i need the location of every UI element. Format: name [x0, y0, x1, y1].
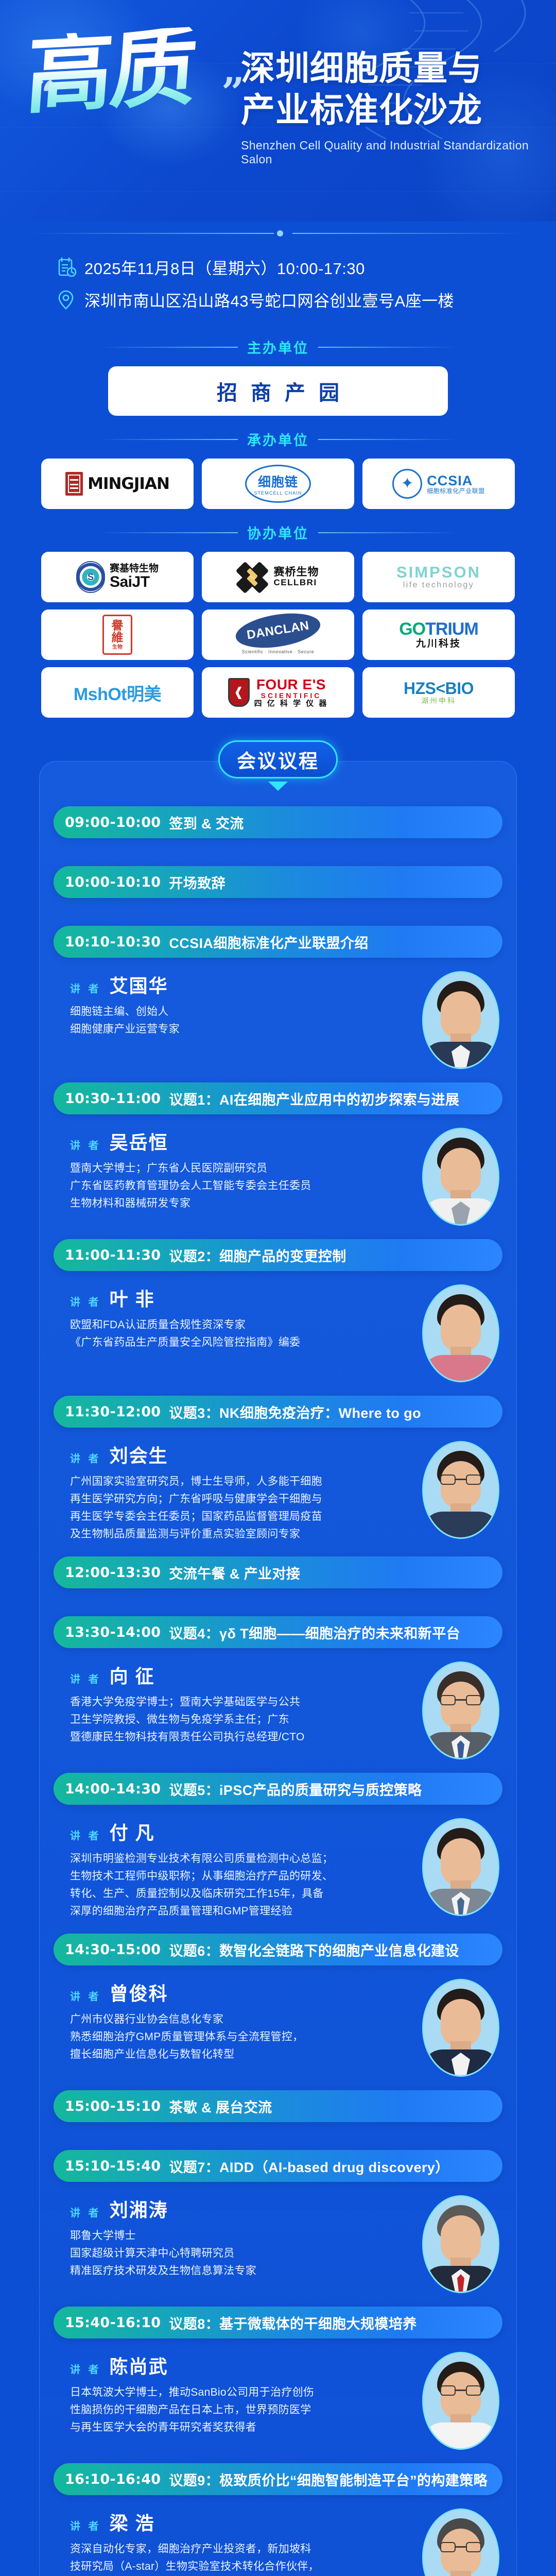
bio-line: 欧盟和FDA认证质量合规性资深专家	[70, 1316, 415, 1334]
bio-line: 暨德康民生物科技有限责任公司执行总经理/CTO	[70, 1728, 415, 1746]
speaker-label: 讲 者	[70, 1450, 101, 1465]
bio-line: 再生医学专委会主任委员；国家药品监督管理局疫苗	[70, 1508, 415, 1526]
logo-danclan: DANCLAN Scientific · Innovative · Secure	[202, 609, 354, 660]
section-label-organizer: 承办单位	[0, 429, 556, 449]
hero-title-line1: 深圳细胞质量与	[241, 47, 545, 89]
ccsia-cn: 细胞标准化产业联盟	[427, 488, 485, 495]
bio-line: 擅长细胞产业信息化与数智化转型	[70, 2046, 415, 2063]
slot-title: 茶歇 & 展台交流	[169, 2096, 272, 2116]
speaker-label: 讲 者	[70, 1294, 101, 1309]
speaker-block: 讲 者 付 凡 深圳市明鉴检测专业技术有限公司质量检测中心总监； 生物技术工程师…	[54, 1805, 502, 1934]
speaker-block: 讲 者 陈尚武 日本筑波大学博士，推动SanBio公司用于治疗创伤 性脑损伤的干…	[54, 2338, 502, 2463]
slot-time: 10:10-10:30	[65, 934, 161, 950]
speaker-label: 讲 者	[70, 1671, 101, 1686]
bio-line: 生物技术工程师中级职称；从事细胞治疗产品的研发、	[70, 1868, 415, 1885]
ccsia-star-icon: ✦	[392, 469, 422, 499]
stemcell-chain-ring-icon: 细胞链 STEMCELL CHAIN	[245, 465, 311, 503]
slot-time: 15:00-15:10	[65, 2098, 161, 2114]
glasses-icon	[439, 2542, 482, 2552]
danclan-tagline: Scientific · Innovative · Secure	[242, 650, 315, 654]
speaker-avatar	[422, 2509, 499, 2576]
label-rule-left	[99, 532, 238, 533]
saijt-emblem-icon: S	[76, 561, 105, 593]
speaker-block: 讲 者 刘会生 广州国家实验室研究员，博士生导师，人多能干细胞 再生医学研究方向…	[54, 1428, 502, 1556]
mshot-cn: 明美	[127, 685, 161, 704]
bio-line: 与再生医学大会的青年研究者奖获得者	[70, 2419, 415, 2436]
logo-mingjian: MINGJIAN	[41, 459, 194, 509]
speaker-bio: 暨南大学博士；广东省人民医院副研究员 广东省医药教育管理协会人工智能专委会主任委…	[70, 1160, 415, 1212]
speaker-label: 讲 者	[70, 1137, 101, 1152]
mshot-wordmark: MshOt明美	[74, 680, 161, 705]
four-es-shield-icon: ❰	[228, 678, 250, 707]
stemcell-chain-cn: 细胞链	[258, 472, 298, 490]
bio-line: 日本筑波大学博士，推动SanBio公司用于治疗创伤	[70, 2384, 415, 2401]
bio-line: 再生医学研究方向；广东省呼吸与健康学会干细胞与	[70, 1490, 415, 1508]
bio-line: 性脑损伤的干细胞产品在日本上市，世界预防医学	[70, 2401, 415, 2419]
slot-title: CCSIA细胞标准化产业联盟介绍	[169, 932, 368, 952]
slot-title: 议题4：γδ T细胞——细胞治疗的未来和新平台	[169, 1622, 460, 1642]
speaker-bio: 日本筑波大学博士，推动SanBio公司用于治疗创伤 性脑损伤的干细胞产品在日本上…	[70, 2384, 415, 2436]
speaker-avatar	[422, 1818, 499, 1916]
agenda-slot[interactable]: 14:30-15:00 议题6：数智化全链路下的细胞产业信息化建设	[54, 1934, 502, 1965]
agenda-caret-icon	[268, 782, 288, 791]
glasses-icon	[439, 1695, 482, 1705]
glasses-icon	[439, 1475, 482, 1485]
bio-line: 暨南大学博士；广东省人民医院副研究员	[70, 1160, 415, 1177]
speaker-label: 讲 者	[70, 1827, 101, 1842]
mingjian-wordmark: MINGJIAN	[88, 474, 169, 493]
bio-line: 深圳市明鉴检测专业技术有限公司质量检测中心总监；	[70, 1850, 415, 1868]
bio-line: 广州市仪器行业协会信息化专家	[70, 2011, 415, 2028]
bio-line: 深厚的细胞治疗产品质量管理和GMP管理经验	[70, 1903, 415, 1920]
glasses-icon	[439, 2385, 482, 2396]
slot-title: 签到 & 交流	[169, 812, 244, 833]
coorganizer-label: 协办单位	[247, 522, 309, 543]
hero-title-block: 深圳细胞质量与 产业标准化沙龙 Shenzhen Cell Quality an…	[241, 47, 545, 166]
hero-title-line2: 产业标准化沙龙	[241, 89, 545, 131]
location-pin-icon	[58, 289, 77, 311]
speaker-bio: 广州国家实验室研究员，博士生导师，人多能干细胞 再生医学研究方向；广东省呼吸与健…	[70, 1473, 415, 1543]
agenda-slot[interactable]: 11:30-12:00 议题3：NK细胞免疫治疗：Where to go	[54, 1396, 502, 1428]
agenda-slot[interactable]: 15:00-15:10 茶歇 & 展台交流	[54, 2090, 502, 2122]
speaker-avatar	[422, 1441, 499, 1539]
speaker-avatar	[422, 2352, 499, 2450]
speaker-name: 吴岳恒	[110, 1128, 168, 1155]
logo-saijt: S 赛基特生物 SaiJT	[41, 552, 194, 602]
cellbri-diamond-icon	[237, 563, 269, 591]
speaker-avatar	[422, 1284, 499, 1382]
slot-title: 议题2：细胞产品的变更控制	[169, 1245, 346, 1265]
agenda-slot[interactable]: 11:00-11:30 议题2：细胞产品的变更控制	[54, 1239, 502, 1271]
speaker-avatar	[422, 1979, 499, 2077]
cellbri-en: CELLBRI	[274, 578, 319, 587]
speaker-avatar	[422, 1128, 499, 1226]
organizer-logo-grid: MINGJIAN 细胞链 STEMCELL CHAIN ✦ CCSIA 细胞标准…	[0, 459, 556, 509]
slot-title: 议题1：AI在细胞产业应用中的初步探索与进展	[169, 1089, 459, 1109]
divider-dot	[277, 230, 283, 236]
bio-line: 及生物制品质量监测与评价重点实验室顾问专家	[70, 1526, 415, 1543]
stemcell-chain-en: STEMCELL CHAIN	[254, 490, 302, 496]
agenda-heading-text: 会议议程	[237, 745, 319, 773]
agenda-slot[interactable]: 10:00-10:10 开场致辞	[54, 866, 502, 898]
cellbri-cn: 赛桥生物	[274, 567, 319, 578]
speaker-label: 讲 者	[70, 980, 101, 995]
host-label: 主办单位	[247, 337, 309, 357]
yuwei-cn2: 維	[112, 632, 124, 643]
yuwei-cn3: 生物	[112, 645, 123, 650]
logo-simpson: SIMPSON life technology	[362, 552, 515, 602]
bio-line: 国家超级计算天津中心特聘研究员	[70, 2245, 415, 2262]
yuwei-seal-icon: 譽 維 生物	[102, 615, 132, 655]
divider-right	[292, 233, 524, 234]
slot-title: 议题6：数智化全链路下的细胞产业信息化建设	[169, 1940, 459, 1960]
slot-time: 13:30-14:00	[65, 1624, 161, 1640]
gotrium-cn: 九川科技	[416, 639, 461, 649]
speaker-name: 曾俊科	[110, 1979, 168, 2006]
danclan-oval-icon: DANCLAN	[233, 609, 323, 653]
slot-title: 开场致辞	[169, 872, 225, 892]
coorganizer-logo-grid: S 赛基特生物 SaiJT 赛桥生物 CELLBRI SIMPS	[0, 552, 556, 718]
logo-ccsia: ✦ CCSIA 细胞标准化产业联盟	[362, 459, 515, 509]
slot-time: 11:00-11:30	[65, 1247, 161, 1263]
spacer	[54, 2122, 502, 2150]
bio-line: 熟悉细胞治疗GMP质量管理体系与全流程管控，	[70, 2028, 415, 2046]
speaker-bio: 深圳市明鉴检测专业技术有限公司质量检测中心总监； 生物技术工程师中级职称；从事细…	[70, 1850, 415, 1920]
agenda-slot[interactable]: 14:00-14:30 议题5：iPSC产品的质量研究与质控策略	[54, 1773, 502, 1805]
speaker-name: 梁 浩	[110, 2509, 155, 2535]
logo-stemcell-chain: 细胞链 STEMCELL CHAIN	[202, 459, 354, 509]
slot-time: 15:10-15:40	[65, 2158, 161, 2174]
agenda-list: 09:00-10:00 签到 & 交流 10:00-10:10 开场致辞 10:…	[0, 791, 556, 2576]
calendar-clock-icon	[58, 257, 77, 278]
mshot-en: MshOt	[74, 685, 127, 704]
event-date-row: 2025年11月8日（星期六）10:00-17:30	[58, 256, 556, 279]
four-es-wordmark: FOUR E'S	[256, 677, 326, 692]
agenda-heading-pill: 会议议程	[218, 740, 338, 778]
agenda-slot[interactable]: 13:30-14:00 议题4：γδ T细胞——细胞治疗的未来和新平台	[54, 1616, 502, 1648]
slot-time: 10:30-11:00	[65, 1091, 161, 1107]
saijt-en: SaiJT	[110, 574, 159, 590]
logo-hzs-bio: HZS<BIO 湖州申科	[362, 667, 515, 718]
four-es-sub: SCIENTIFIC	[261, 692, 322, 700]
agenda-slot[interactable]: 10:10-10:30 CCSIA细胞标准化产业联盟介绍	[54, 926, 502, 958]
hero-divider	[0, 226, 556, 241]
danclan-wordmark: DANCLAN	[246, 619, 310, 642]
spacer	[54, 898, 502, 926]
yuwei-cn1: 譽	[112, 620, 124, 632]
label-rule-left	[99, 439, 238, 440]
gotrium-wordmark: GOTRIUM	[399, 620, 478, 639]
agenda-section: 会议议程 09:00-10:00 签到 & 交流 10:00-10:10 开场致…	[0, 740, 556, 2576]
speaker-bio: 广州市仪器行业协会信息化专家 熟悉细胞治疗GMP质量管理体系与全流程管控， 擅长…	[70, 2011, 415, 2063]
divider-left	[32, 233, 274, 234]
simpson-tagline: life technology	[403, 581, 474, 590]
speaker-name: 艾国华	[110, 971, 168, 998]
calligraphy-text: 高质	[24, 27, 197, 115]
speaker-block: 讲 者 刘湘涛 耶鲁大学博士 国家超级计算天津中心特聘研究员 精准医疗技术研发及…	[54, 2182, 502, 2307]
slot-time: 15:40-16:10	[65, 2315, 161, 2331]
bio-line: 技研究局（A-star）生物实验室技术转化合作伙伴，	[70, 2558, 415, 2575]
event-date: 2025年11月8日（星期六）10:00-17:30	[84, 256, 365, 279]
speaker-label: 讲 者	[70, 2205, 101, 2219]
label-rule-right	[318, 439, 457, 440]
bio-line: 耶鲁大学博士	[70, 2227, 415, 2245]
speaker-label: 讲 者	[70, 2361, 101, 2376]
slot-title: 交流午餐 & 产业对接	[169, 1563, 300, 1583]
hzs-wordmark: HZS<BIO	[404, 680, 474, 698]
calligraphy-block: “ 高质 ”	[27, 31, 233, 201]
speaker-block: 讲 者 艾国华 细胞链主编、创始人 细胞健康产业运营专家	[54, 958, 502, 1082]
logo-cellbri: 赛桥生物 CELLBRI	[202, 552, 354, 602]
event-location: 深圳市南山区沿山路43号蛇口网谷创业壹号A座一楼	[84, 288, 454, 311]
logo-mshot: MshOt明美	[41, 667, 194, 718]
speaker-name: 刘会生	[110, 1441, 168, 1468]
bio-line: 资深自动化专家，细胞治疗产业投资者，新加坡科	[70, 2540, 415, 2558]
event-location-row: 深圳市南山区沿山路43号蛇口网谷创业壹号A座一楼	[58, 288, 556, 311]
agenda-slot[interactable]: 15:10-15:40 议题7：AIDD（AI-based drug disco…	[54, 2150, 502, 2182]
speaker-bio: 香港大学免疫学博士；暨南大学基础医学与公共 卫生学院教授、微生物与免疫学系主任；…	[70, 1693, 415, 1746]
label-rule-right	[318, 532, 457, 533]
spacer	[54, 838, 502, 866]
slot-time: 14:30-15:00	[65, 1942, 161, 1958]
spacer	[54, 1588, 502, 1616]
bio-line: 细胞链主编、创始人	[70, 1003, 415, 1021]
speaker-block: 讲 者 梁 浩 资深自动化专家，细胞治疗产业投资者，新加坡科 技研究局（A-st…	[54, 2495, 502, 2576]
agenda-slot[interactable]: 09:00-10:00 签到 & 交流	[54, 806, 502, 838]
speaker-avatar	[422, 1662, 499, 1759]
bio-line: 精准医疗技术研发及生物信息算法专家	[70, 2262, 415, 2280]
logo-four-es: ❰ FOUR E'S SCIENTIFIC 四 亿 科 学 仪 器	[202, 667, 354, 718]
slot-time: 16:10-16:40	[65, 2471, 161, 2487]
agenda-slot[interactable]: 16:10-16:40 议题9：极致质价比“细胞智能制造平台”的构建策略	[54, 2463, 502, 2495]
speaker-name: 刘湘涛	[110, 2195, 168, 2222]
label-rule-left	[99, 347, 238, 348]
speaker-avatar	[422, 971, 499, 1069]
ccsia-wordmark: CCSIA	[427, 473, 485, 488]
bio-line: 生物材料和器械研发专家	[70, 1195, 415, 1212]
slot-title: 议题9：极致质价比“细胞智能制造平台”的构建策略	[169, 2469, 488, 2489]
speaker-block: 讲 者 叶 非 欧盟和FDA认证质量合规性资深专家 《广东省药品生产质量安全风险…	[54, 1271, 502, 1396]
logo-gotrium: GOTRIUM 九川科技	[362, 609, 515, 660]
bio-line: 广州国家实验室研究员，博士生导师，人多能干细胞	[70, 1473, 415, 1490]
bio-line: 卫生学院教授、微生物与免疫学系主任；广东	[70, 1711, 415, 1728]
slot-title: 议题5：iPSC产品的质量研究与质控策略	[169, 1779, 422, 1799]
speaker-bio: 欧盟和FDA认证质量合规性资深专家 《广东省药品生产质量安全风险管控指南》编委	[70, 1316, 415, 1351]
four-es-cn: 四 亿 科 学 仪 器	[254, 700, 328, 708]
organizer-label: 承办单位	[247, 429, 309, 449]
slot-time: 09:00-10:00	[65, 815, 161, 831]
gotrium-go: GO	[399, 619, 425, 639]
label-rule-right	[318, 347, 457, 348]
hero-subtitle: Shenzhen Cell Quality and Industrial Sta…	[241, 139, 545, 166]
slot-time: 10:00-10:10	[65, 874, 161, 890]
section-label-host: 主办单位	[0, 337, 556, 357]
speaker-block: 讲 者 向 征 香港大学免疫学博士；暨南大学基础医学与公共 卫生学院教授、微生物…	[54, 1648, 502, 1773]
agenda-slot[interactable]: 12:00-13:30 交流午餐 & 产业对接	[54, 1556, 502, 1588]
simpson-wordmark: SIMPSON	[396, 564, 481, 581]
slot-time: 11:30-12:00	[65, 1404, 161, 1420]
agenda-slot[interactable]: 10:30-11:00 议题1：AI在细胞产业应用中的初步探索与进展	[54, 1082, 502, 1114]
speaker-block: 讲 者 曾俊科 广州市仪器行业协会信息化专家 熟悉细胞治疗GMP质量管理体系与全…	[54, 1965, 502, 2090]
bio-line: 细胞健康产业运营专家	[70, 1021, 415, 1038]
slot-time: 14:00-14:30	[65, 1781, 161, 1797]
speaker-name: 向 征	[110, 1662, 155, 1688]
mingjian-seal-icon	[65, 472, 83, 496]
bio-line: 香港大学免疫学博士；暨南大学基础医学与公共	[70, 1693, 415, 1711]
gotrium-trium: TRIUM	[425, 619, 478, 639]
logo-yuwei: 譽 維 生物	[41, 609, 194, 660]
host-logo-text: 招商产园	[203, 376, 353, 406]
section-label-coorganizer: 协办单位	[0, 522, 556, 543]
speaker-block: 讲 者 吴岳恒 暨南大学博士；广东省人民医院副研究员 广东省医药教育管理协会人工…	[54, 1114, 502, 1239]
event-info: 2025年11月8日（星期六）10:00-17:30 深圳市南山区沿山路43号蛇…	[0, 241, 556, 324]
speaker-name: 陈尚武	[110, 2352, 168, 2379]
speaker-name: 付 凡	[110, 1818, 155, 1845]
slot-time: 12:00-13:30	[65, 1565, 161, 1581]
speaker-bio: 细胞链主编、创始人 细胞健康产业运营专家	[70, 1003, 415, 1038]
speaker-avatar	[422, 2195, 499, 2293]
saijt-cn: 赛基特生物	[110, 564, 159, 574]
host-logo-card: 招商产园	[108, 366, 448, 416]
hero-banner: “ 高质 ” 深圳细胞质量与 产业标准化沙龙 Shenzhen Cell Qua…	[0, 0, 556, 222]
speaker-name: 叶 非	[110, 1284, 155, 1311]
hzs-cn: 湖州申科	[421, 697, 456, 705]
bio-line: 广东省医药教育管理协会人工智能专委会主任委员	[70, 1177, 415, 1195]
slot-title: 议题7：AIDD（AI-based drug discovery）	[169, 2156, 449, 2176]
bio-line: 转化、生产、质量控制以及临床研究工作15年，具备	[70, 1885, 415, 1903]
speaker-label: 讲 者	[70, 1988, 101, 2003]
speaker-label: 讲 者	[70, 2518, 101, 2533]
speaker-bio: 耶鲁大学博士 国家超级计算天津中心特聘研究员 精准医疗技术研发及生物信息算法专家	[70, 2227, 415, 2280]
slot-title: 议题3：NK细胞免疫治疗：Where to go	[169, 1402, 421, 1422]
agenda-slot[interactable]: 15:40-16:10 议题8：基于微载体的干细胞大规模培养	[54, 2307, 502, 2338]
slot-title: 议题8：基于微载体的干细胞大规模培养	[169, 2313, 416, 2333]
bio-line: 《广东省药品生产质量安全风险管控指南》编委	[70, 1334, 415, 1351]
speaker-bio: 资深自动化专家，细胞治疗产业投资者，新加坡科 技研究局（A-star）生物实验室…	[70, 2540, 415, 2576]
